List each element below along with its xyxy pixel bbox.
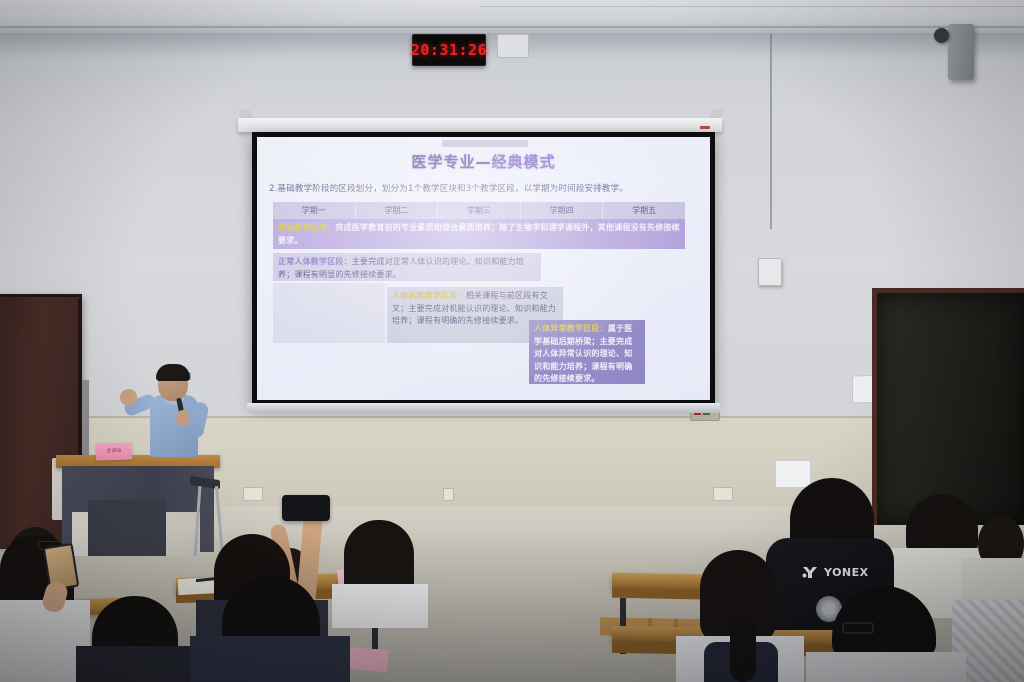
slide-header-tag [442, 140, 528, 147]
student-hair [906, 494, 978, 556]
presenter-hair [156, 364, 190, 381]
projected-slide: 医学专业—经典模式 2.基础教学阶段的区段划分，划分为1个教学区块和3个教学区段… [257, 137, 710, 400]
student-torso [76, 646, 196, 682]
slide-block-normal-body: 正常人体教学区段：主要完成对正常人体认识的理论、知识和能力培养；课程有明显的先修… [273, 253, 541, 281]
table-header-cell: 学期三 [438, 202, 521, 219]
screen-bottom-weight-bar [247, 403, 720, 413]
slide-block-abnormal: 人体异常教学区段：属于医学基础后期桥梁；主要完成对人体异常认识的理论、知识和能力… [529, 320, 645, 384]
screen-status-led [700, 126, 710, 129]
slide-block-foundation: 基础教学区块：完成医学教育前的专业素质和综合素质培养；除了生物学和理学课程外，其… [273, 219, 685, 249]
ceiling-seam-secondary [480, 6, 1024, 7]
ceiling-camera [934, 28, 949, 43]
clock-time-text: 20:31:26 [411, 41, 487, 59]
slide-block-lead: 正常人体教学区段： [278, 257, 352, 266]
smartphone-device[interactable] [282, 495, 330, 521]
slide-table-header-row: 学期一 学期二 学期三 学期四 学期五 [273, 202, 685, 219]
wall-paper-sheet [775, 460, 811, 488]
ceiling-seam [0, 26, 1024, 28]
classroom-door-right[interactable] [872, 288, 1024, 525]
slide-block-backdrop [273, 283, 385, 343]
podium-sign-label: 主讲台 [100, 447, 128, 455]
glasses-icon [842, 622, 874, 634]
led-wall-clock: 20:31:26 [412, 34, 486, 66]
yonex-logo-icon [802, 566, 820, 579]
student-torso [806, 652, 966, 682]
slide-title-main: 医学专业— [411, 153, 491, 171]
slide-subtitle: 2.基础教学阶段的区段划分，划分为1个教学区块和3个教学区段，以学期为时间段安排… [269, 182, 699, 194]
table-header-cell: 学期五 [603, 202, 685, 219]
student-torso [332, 584, 428, 628]
slide-title-accent: 经典模式 [492, 153, 556, 171]
slide-block-text: 完成医学教育前的专业素质和综合素质培养；除了生物学和理学课程外，其他课程没有先修… [278, 223, 680, 245]
wall-outlet [243, 487, 263, 501]
slide-block-lead: 人体异常教学区段： [534, 324, 608, 333]
ponytail [730, 618, 756, 682]
screen-roller-housing [238, 118, 722, 132]
podium-recess [88, 500, 166, 556]
classroom-scene: 20:31:26 医学专业—经典模式 2.基础教学阶段的区段划分，划分为1个教学… [0, 0, 1024, 682]
presenter-left-hand [120, 389, 137, 406]
hanging-cable [770, 34, 772, 229]
table-header-cell: 学期一 [273, 202, 356, 219]
student-torso [190, 636, 350, 682]
table-header-cell: 学期四 [521, 202, 604, 219]
wall-outlet [443, 488, 454, 501]
slide-block-lead: 基础教学区块： [278, 223, 335, 232]
slide-block-lead: 人体机能教学区段： [392, 291, 466, 300]
ceiling-mounted-box [497, 34, 529, 58]
table-header-cell: 学期二 [356, 202, 439, 219]
yonex-shirt-text: YONEX [824, 566, 869, 579]
slide-title: 医学专业—经典模式 [257, 151, 710, 172]
pull-down-projection-screen[interactable]: 医学专业—经典模式 2.基础教学阶段的区段划分，划分为1个教学区块和3个教学区段… [252, 132, 715, 405]
wall-outlet [713, 487, 733, 501]
presenter-right-hand [176, 410, 190, 426]
wall-speaker [948, 24, 974, 80]
wall-junction-box [758, 258, 782, 286]
